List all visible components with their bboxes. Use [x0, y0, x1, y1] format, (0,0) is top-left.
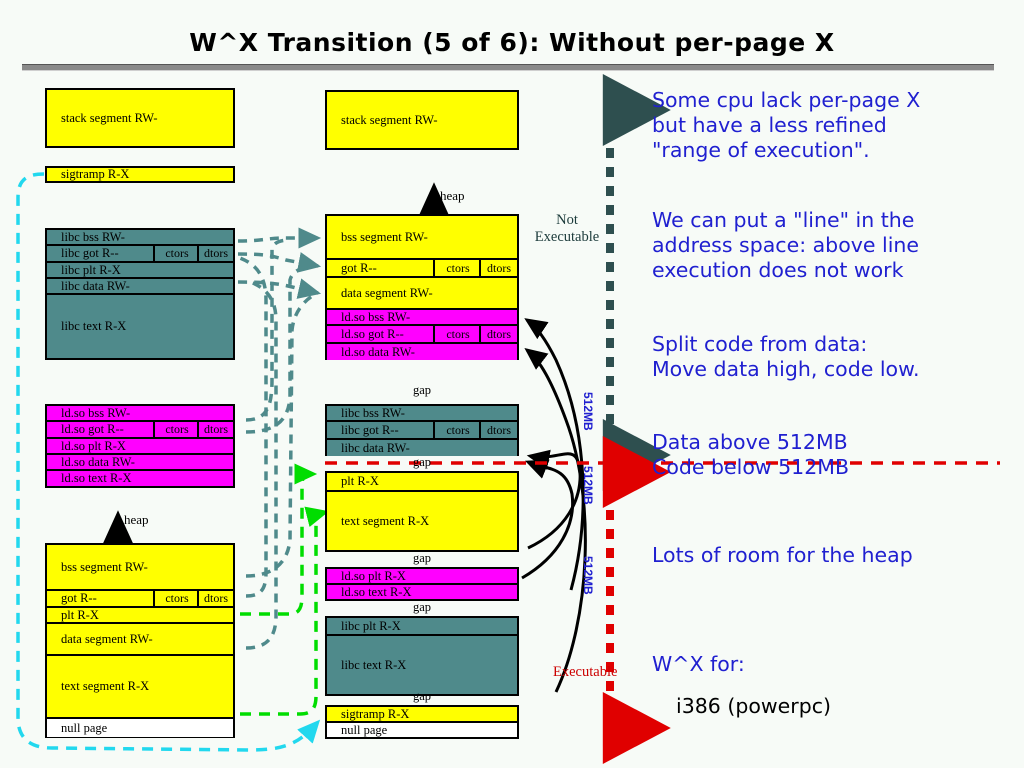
mid-row-libc-text[interactable]: libc text R-X — [327, 636, 517, 694]
executable-label: Executable — [553, 664, 617, 681]
mid-ldso-code-group: ld.so plt R-X ld.so text R-X — [325, 567, 519, 601]
left-row-ldso-got-label: ld.so got R-- — [61, 422, 124, 437]
mid-ldso-dtors-cell[interactable]: dtors — [479, 326, 517, 342]
mid-row-libc-data[interactable]: libc data RW- — [327, 440, 517, 456]
mid-row-libc-plt[interactable]: libc plt R-X — [327, 618, 517, 636]
left-ctors-cell[interactable]: ctors — [153, 591, 199, 606]
mid-row-ldso-bss[interactable]: ld.so bss RW- — [327, 310, 517, 326]
note-wx-arch: i386 (powerpc) — [676, 694, 1024, 719]
left-row-ldso-plt[interactable]: ld.so plt R-X — [47, 439, 233, 455]
code-migration-arrows — [240, 474, 326, 714]
mid-row-ldso-got-label: ld.so got R-- — [341, 327, 404, 342]
slide-canvas: W^X Transition (5 of 6): Without per-pag… — [0, 0, 1024, 768]
left-row-sigtramp[interactable]: sigtramp R-X — [47, 168, 233, 181]
code-below-line-arrows — [522, 320, 585, 692]
left-libc-ctors-cell[interactable]: ctors — [153, 246, 199, 261]
mid-sigtramp-null-group: sigtramp R-X null page — [325, 705, 519, 739]
left-heap-label: heap — [124, 512, 149, 528]
mid-row-ldso-got[interactable]: ld.so got R-- ctors dtors — [327, 326, 517, 344]
note-512mb-split: Data above 512MB Code below 512MB — [652, 430, 1017, 480]
mb-label-1: 512MB — [581, 392, 595, 431]
left-row-ldso-bss[interactable]: ld.so bss RW- — [47, 406, 233, 422]
mid-libc-ctors-cell[interactable]: ctors — [433, 422, 481, 438]
mid-row-ldso-text[interactable]: ld.so text R-X — [327, 585, 517, 599]
mid-row-data-segment[interactable]: data segment RW- — [327, 278, 517, 310]
note-heap-room: Lots of room for the heap — [652, 543, 1017, 568]
left-row-stack-segment[interactable]: stack segment RW- — [47, 90, 233, 146]
left-dtors-cell[interactable]: dtors — [197, 591, 233, 606]
left-ldso-group: ld.so bss RW- ld.so got R-- ctors dtors … — [45, 404, 235, 488]
page-title: W^X Transition (5 of 6): Without per-pag… — [0, 28, 1024, 57]
gap-label-5: gap — [325, 689, 519, 704]
mid-row-ldso-data[interactable]: ld.so data RW- — [327, 344, 517, 360]
left-row-libc-data[interactable]: libc data RW- — [47, 279, 233, 295]
left-row-plt[interactable]: plt R-X — [47, 608, 233, 624]
mid-row-got-label: got R-- — [341, 261, 377, 276]
gap-label-3: gap — [325, 551, 519, 566]
note-wx-for: W^X for: — [652, 652, 1017, 677]
left-libc-group: libc bss RW- libc got R-- ctors dtors li… — [45, 228, 235, 360]
left-ldso-dtors-cell[interactable]: dtors — [197, 422, 233, 437]
left-row-libc-bss[interactable]: libc bss RW- — [47, 230, 233, 246]
mid-row-libc-got[interactable]: libc got R-- ctors dtors — [327, 422, 517, 440]
mid-row-stack-segment[interactable]: stack segment RW- — [327, 92, 517, 148]
mid-row-got[interactable]: got R-- ctors dtors — [327, 260, 517, 278]
mid-heap-label: heap — [440, 188, 465, 204]
left-row-libc-got-label: libc got R-- — [61, 246, 119, 261]
mid-program-code-group: plt R-X text segment R-X — [325, 471, 519, 552]
mid-row-bss-segment[interactable]: bss segment RW- — [327, 216, 517, 260]
left-row-ldso-text[interactable]: ld.so text R-X — [47, 471, 233, 486]
left-ldso-ctors-cell[interactable]: ctors — [153, 422, 199, 437]
mid-row-libc-got-label: libc got R-- — [341, 423, 399, 438]
mid-row-null-page[interactable]: null page — [327, 723, 517, 737]
gap-label-4: gap — [325, 600, 519, 615]
note-split-code-data: Split code from data: Move data high, co… — [652, 332, 1017, 382]
mid-row-text-segment[interactable]: text segment R-X — [327, 492, 517, 550]
left-row-bss-segment[interactable]: bss segment RW- — [47, 545, 233, 591]
mid-ldso-ctors-cell[interactable]: ctors — [433, 326, 481, 342]
mid-libc-code-group: libc plt R-X libc text R-X — [325, 616, 519, 696]
left-sigtramp-group: sigtramp R-X — [45, 166, 235, 183]
mb-label-3: 512MB — [581, 556, 595, 595]
left-row-libc-text[interactable]: libc text R-X — [47, 295, 233, 358]
left-row-got-label: got R-- — [61, 591, 97, 606]
gap-label-1: gap — [325, 383, 519, 398]
mid-row-plt[interactable]: plt R-X — [327, 473, 517, 492]
note-range-of-execution: Some cpu lack per-page X but have a less… — [652, 88, 1017, 163]
left-row-libc-got[interactable]: libc got R-- ctors dtors — [47, 246, 233, 263]
mid-data-group: bss segment RW- got R-- ctors dtors data… — [325, 214, 519, 360]
gap-label-2: gap — [325, 455, 519, 470]
mid-row-libc-bss[interactable]: libc bss RW- — [327, 406, 517, 422]
left-row-null-page[interactable]: null page — [47, 719, 233, 737]
left-row-ldso-data[interactable]: ld.so data RW- — [47, 455, 233, 471]
left-libc-dtors-cell[interactable]: dtors — [197, 246, 233, 261]
mb-label-2: 512MB — [581, 466, 595, 505]
mid-row-ldso-plt[interactable]: ld.so plt R-X — [327, 569, 517, 585]
left-row-text-segment[interactable]: text segment R-X — [47, 656, 233, 719]
mid-row-sigtramp[interactable]: sigtramp R-X — [327, 707, 517, 723]
data-migration-arrows — [238, 238, 318, 648]
left-row-ldso-got[interactable]: ld.so got R-- ctors dtors — [47, 422, 233, 439]
mid-libc-data-group: libc bss RW- libc got R-- ctors dtors li… — [325, 404, 519, 456]
mid-stack-group: stack segment RW- — [325, 90, 519, 150]
mid-ctors-cell[interactable]: ctors — [433, 260, 481, 276]
mid-libc-dtors-cell[interactable]: dtors — [479, 422, 517, 438]
title-divider — [22, 64, 994, 71]
left-row-data-segment[interactable]: data segment RW- — [47, 624, 233, 656]
left-stack-group: stack segment RW- — [45, 88, 235, 148]
left-program-group: bss segment RW- got R-- ctors dtors plt … — [45, 543, 235, 738]
note-line-in-address-space: We can put a "line" in the address space… — [652, 208, 1017, 283]
left-row-got[interactable]: got R-- ctors dtors — [47, 591, 233, 608]
mid-dtors-cell[interactable]: dtors — [479, 260, 517, 276]
left-row-libc-plt[interactable]: libc plt R-X — [47, 263, 233, 279]
not-executable-label: Not Executable — [527, 212, 607, 246]
